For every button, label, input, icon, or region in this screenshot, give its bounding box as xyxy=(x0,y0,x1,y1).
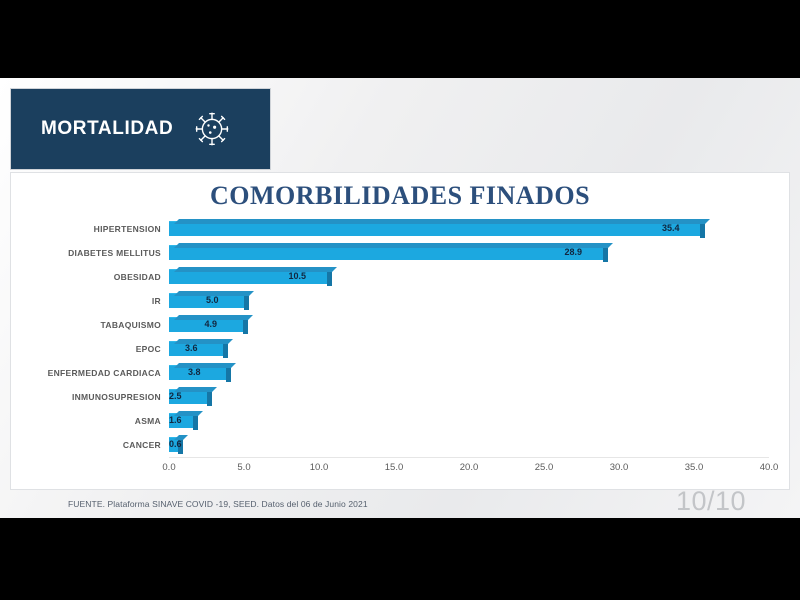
x-tick-label: 5.0 xyxy=(237,462,250,473)
x-tick-label: 40.0 xyxy=(760,462,779,473)
bar-value-label: 2.5 xyxy=(169,389,182,403)
bar-category-label: DIABETES MELLITUS xyxy=(11,248,169,258)
bar-category-label: ASMA xyxy=(11,416,169,426)
x-tick-labels: 0.05.010.015.020.025.030.035.040.0 xyxy=(169,458,769,478)
bar-track: 3.6 xyxy=(169,337,769,361)
bar-row: CANCER0.6 xyxy=(11,433,791,457)
bar-track: 28.9 xyxy=(169,241,769,265)
bar-value-label: 4.9 xyxy=(205,317,218,331)
bar-row: TABAQUISMO4.9 xyxy=(11,313,791,337)
x-tick-label: 20.0 xyxy=(460,462,479,473)
bar-value-label: 3.6 xyxy=(185,341,198,355)
chart-title: COMORBILIDADES FINADOS xyxy=(11,181,789,211)
bar-category-label: EPOC xyxy=(11,344,169,354)
bar-category-label: INMUNOSUPRESION xyxy=(11,392,169,402)
x-tick-label: 25.0 xyxy=(535,462,554,473)
bar-row: INMUNOSUPRESION2.5 xyxy=(11,385,791,409)
bar-row: OBESIDAD10.5 xyxy=(11,265,791,289)
coronavirus-icon xyxy=(191,108,233,150)
bar-category-label: ENFERMEDAD CARDIACA xyxy=(11,368,169,378)
x-tick-label: 0.0 xyxy=(162,462,175,473)
x-axis: 0.05.010.015.020.025.030.035.040.0 xyxy=(169,457,769,478)
bar-track: 3.8 xyxy=(169,361,769,385)
bar-value-label: 3.8 xyxy=(188,365,201,379)
letterbox-top xyxy=(0,0,800,78)
bar-row: ENFERMEDAD CARDIACA3.8 xyxy=(11,361,791,385)
slide-canvas: MORTALIDAD xyxy=(0,78,800,518)
bar-category-label: OBESIDAD xyxy=(11,272,169,282)
plot-area: HIPERTENSION35.4DIABETES MELLITUS28.9OBE… xyxy=(11,217,789,462)
bar-value-label: 35.4 xyxy=(662,221,680,235)
bar-value-label: 5.0 xyxy=(206,293,219,307)
bar-track: 0.6 xyxy=(169,433,769,457)
slide-root: MORTALIDAD xyxy=(0,0,800,600)
bar-track: 5.0 xyxy=(169,289,769,313)
bar-category-label: HIPERTENSION xyxy=(11,224,169,234)
source-note: FUENTE. Plataforma SINAVE COVID -19, SEE… xyxy=(68,499,368,509)
banner-title: MORTALIDAD xyxy=(41,118,173,140)
bar-row: DIABETES MELLITUS28.9 xyxy=(11,241,791,265)
chart-card: COMORBILIDADES FINADOS HIPERTENSION35.4D… xyxy=(10,172,790,490)
x-tick-label: 35.0 xyxy=(685,462,704,473)
bar-row: IR5.0 xyxy=(11,289,791,313)
mortalidad-banner: MORTALIDAD xyxy=(10,88,271,170)
bar[interactable] xyxy=(169,221,700,236)
bar-track: 2.5 xyxy=(169,385,769,409)
bar-row: EPOC3.6 xyxy=(11,337,791,361)
x-tick-label: 30.0 xyxy=(610,462,629,473)
x-tick-label: 10.0 xyxy=(310,462,329,473)
x-tick-label: 15.0 xyxy=(385,462,404,473)
bar-track: 1.6 xyxy=(169,409,769,433)
letterbox-bottom xyxy=(0,518,800,600)
bar-value-label: 28.9 xyxy=(565,245,583,259)
bar-track: 4.9 xyxy=(169,313,769,337)
bar-value-label: 1.6 xyxy=(169,413,182,427)
bar-row: ASMA1.6 xyxy=(11,409,791,433)
bar-category-label: CANCER xyxy=(11,440,169,450)
page-number: 10/10 xyxy=(676,486,746,517)
bar-value-label: 10.5 xyxy=(289,269,307,283)
bar-list: HIPERTENSION35.4DIABETES MELLITUS28.9OBE… xyxy=(11,217,791,457)
bar-category-label: IR xyxy=(11,296,169,306)
bar[interactable] xyxy=(169,245,603,260)
bar-track: 10.5 xyxy=(169,265,769,289)
bar-row: HIPERTENSION35.4 xyxy=(11,217,791,241)
bar-value-label: 0.6 xyxy=(169,437,182,451)
bar-category-label: TABAQUISMO xyxy=(11,320,169,330)
bar-track: 35.4 xyxy=(169,217,769,241)
